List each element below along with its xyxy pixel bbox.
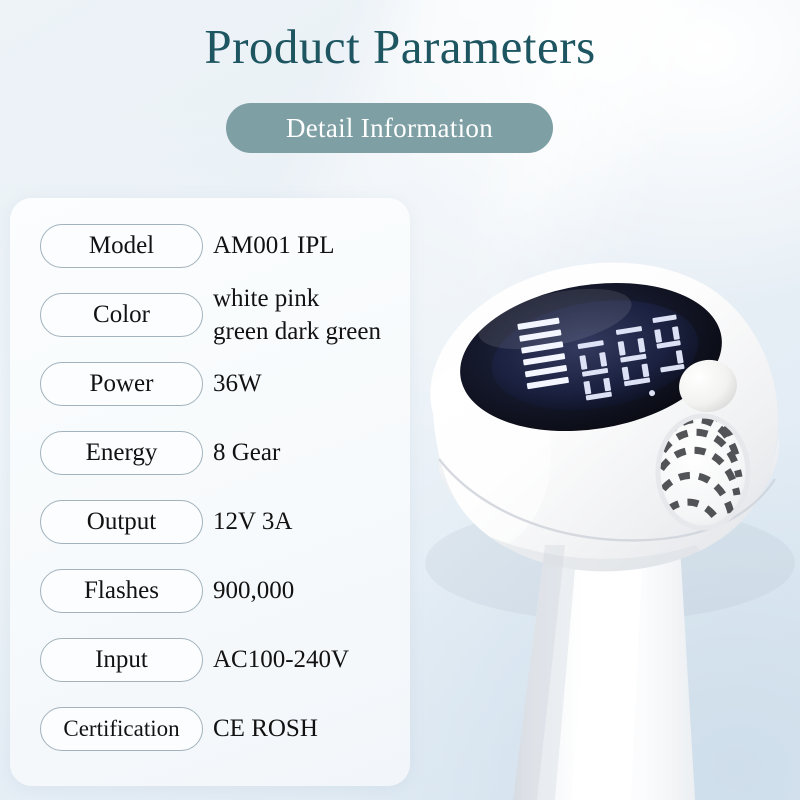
spec-label-certification: Certification: [40, 707, 203, 751]
spec-label-power: Power: [40, 362, 203, 406]
spec-value-input: AC100-240V: [213, 638, 463, 682]
page-title: Product Parameters: [0, 16, 800, 78]
spec-row: Energy8 Gear: [0, 431, 470, 475]
spec-value-power: 36W: [213, 362, 463, 406]
spec-row: Power36W: [0, 362, 470, 406]
lcd-screen: [449, 265, 740, 449]
spec-label-input: Input: [40, 638, 203, 682]
spec-value-flashes: 900,000: [213, 569, 463, 613]
detail-information-badge: Detail Information: [226, 103, 553, 153]
air-vent-grille: [658, 410, 748, 528]
spec-value-color: white pink green dark green: [213, 279, 463, 351]
spec-row: InputAC100-240V: [0, 638, 470, 682]
spec-label-color: Color: [40, 293, 203, 337]
power-button: [675, 356, 740, 416]
spec-list: ModelAM001 IPLColorwhite pink green dark…: [0, 198, 470, 786]
spec-label-model: Model: [40, 224, 203, 268]
spec-row: Colorwhite pink green dark green: [0, 293, 470, 337]
spec-label-flashes: Flashes: [40, 569, 203, 613]
spec-value-energy: 8 Gear: [213, 431, 463, 475]
spec-label-energy: Energy: [40, 431, 203, 475]
spec-row: CertificationCE ROSH: [0, 707, 470, 751]
spec-row: Flashes900,000: [0, 569, 470, 613]
spec-value-model: AM001 IPL: [213, 224, 463, 268]
spec-row: ModelAM001 IPL: [0, 224, 470, 268]
spec-label-output: Output: [40, 500, 203, 544]
spec-value-certification: CE ROSH: [213, 707, 463, 751]
infographic-canvas: Product Parameters Detail Information Mo…: [0, 0, 800, 800]
spec-value-output: 12V 3A: [213, 500, 463, 544]
spec-row: Output12V 3A: [0, 500, 470, 544]
